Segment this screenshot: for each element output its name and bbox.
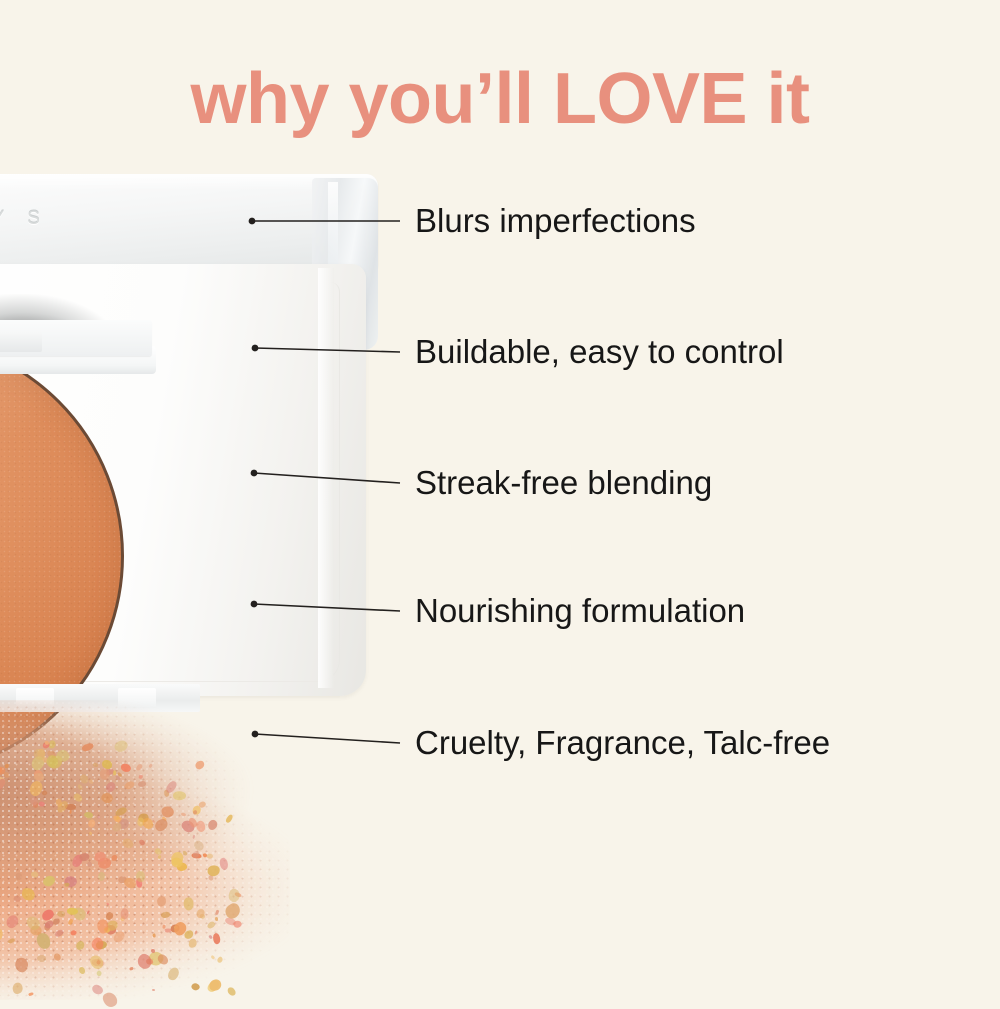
powder-crumb (174, 925, 179, 929)
powder-crumb (8, 938, 16, 945)
powder-crumb (123, 877, 137, 889)
powder-crumb (86, 861, 93, 868)
powder-crumb (28, 923, 42, 937)
powder-crumb (138, 812, 150, 824)
powder-crumb (154, 846, 163, 855)
page-title: why you’ll LOVE it (0, 62, 1000, 138)
powder-crumb (106, 920, 118, 932)
powder-crumb (4, 913, 20, 929)
compact-clasp-notch-right (118, 688, 156, 708)
powder-crumb (120, 908, 129, 920)
powder-crumb (136, 818, 145, 828)
powder-crumb (38, 800, 46, 807)
powder-crumb (136, 877, 144, 889)
powder-crumb (41, 908, 56, 921)
powder-crumb (192, 810, 197, 815)
powder-crumb (25, 914, 42, 932)
powder-crumb (156, 896, 167, 907)
powder-crumb (192, 853, 202, 859)
powder-crumb (192, 805, 201, 814)
powder-crumb (41, 873, 57, 889)
powder-crumb (88, 778, 94, 784)
powder-crumb (92, 958, 105, 966)
powder-crumb (0, 928, 3, 942)
powder-crumb (215, 917, 218, 921)
powder-crumb (161, 816, 167, 822)
powder-crumb (171, 920, 189, 938)
powder-crumb (156, 952, 170, 965)
powder-crumb (30, 870, 39, 878)
powder-crumb (193, 840, 206, 853)
powder-crumb (161, 911, 171, 919)
powder-crumb (176, 862, 189, 874)
powder-crumb (139, 775, 144, 779)
powder-crumb (208, 874, 215, 881)
callout-row: Cruelty, Fragrance, Talc-free (0, 723, 1000, 763)
powder-crumb (90, 983, 104, 997)
powder-crumb (114, 805, 128, 818)
powder-crumb (199, 913, 206, 920)
powder-crumb (29, 797, 39, 807)
powder-crumb (225, 813, 234, 823)
powder-crumb (168, 850, 186, 868)
powder-crumb (181, 818, 197, 835)
powder-crumb (54, 953, 62, 961)
callout-row: Blurs imperfections (0, 201, 1000, 241)
powder-crumb (13, 956, 31, 974)
powder-crumb (32, 801, 40, 809)
powder-crumb (183, 929, 194, 939)
powder-crumb (121, 837, 134, 851)
powder-crumb (105, 911, 116, 922)
powder-crumb (172, 790, 186, 801)
powder-crumb (21, 888, 36, 902)
powder-crumb (55, 798, 63, 808)
powder-crumb (64, 804, 75, 811)
powder-crumb (206, 818, 220, 832)
powder-crumb (215, 910, 219, 915)
callout-label: Buildable, easy to control (415, 332, 784, 372)
powder-crumb (209, 935, 214, 940)
powder-crumb (206, 920, 216, 930)
powder-crumb (27, 779, 45, 798)
powder-crumb (104, 780, 117, 793)
powder-crumb (5, 764, 10, 768)
powder-crumb (52, 917, 61, 925)
powder-crumb (65, 882, 70, 887)
powder-crumb (106, 903, 110, 907)
powder-crumb (169, 855, 184, 870)
powder-crumb (115, 775, 121, 781)
powder-crumb (211, 955, 216, 960)
powder-crumb (0, 897, 2, 913)
powder-crumb (84, 812, 93, 818)
powder-crumb (13, 871, 24, 882)
powder-crumb (33, 772, 45, 783)
powder-crumb (167, 966, 180, 981)
powder-crumb (97, 856, 112, 870)
powder-crumb (98, 767, 111, 781)
powder-crumb (202, 853, 207, 858)
powder-crumb (119, 915, 125, 921)
powder-crumb (198, 801, 207, 810)
powder-crumb (194, 819, 207, 833)
powder-crumb (208, 979, 221, 992)
powder-crumb (192, 850, 201, 859)
powder-crumb (163, 789, 170, 798)
powder-crumb (207, 864, 221, 877)
powder-crumb (233, 920, 243, 929)
callout-row: Nourishing formulation (0, 591, 1000, 631)
powder-crumb (0, 765, 7, 776)
powder-crumb (111, 822, 122, 832)
powder-crumb (119, 818, 130, 829)
powder-crumb (149, 764, 154, 769)
powder-crumb (43, 922, 51, 931)
powder-crumb (97, 871, 107, 882)
powder-crumb (152, 819, 156, 823)
powder-crumb (72, 906, 89, 922)
powder-crumb (183, 896, 196, 911)
powder-crumb (224, 917, 236, 926)
powder-crumb (150, 949, 154, 953)
powder-crumb (28, 992, 33, 996)
powder-crumb (56, 799, 69, 814)
callout-label: Blurs imperfections (415, 201, 696, 241)
powder-crumb (235, 892, 242, 898)
powder-crumb (135, 870, 146, 882)
powder-crumb (162, 924, 166, 929)
powder-crumb (12, 895, 21, 903)
powder-crumb (111, 855, 118, 862)
powder-crumb (11, 982, 24, 995)
powder-crumb (190, 982, 200, 992)
callout-label: Nourishing formulation (415, 591, 745, 631)
powder-crumb (181, 850, 188, 856)
powder-crumb (118, 876, 127, 884)
powder-crumb (74, 940, 86, 952)
powder-crumb (70, 930, 76, 936)
powder-crumb (130, 966, 134, 970)
powder-crumb (79, 966, 86, 973)
powder-crumb (78, 773, 90, 785)
powder-crumb (85, 909, 89, 914)
powder-crumb (56, 910, 64, 916)
powder-crumb (0, 766, 3, 774)
powder-crumb (97, 815, 101, 819)
powder-crumb (112, 929, 127, 944)
powder-crumb (96, 959, 102, 965)
powder-crumb (73, 793, 84, 803)
powder-crumb (211, 932, 221, 945)
powder-crumb (161, 805, 175, 819)
callout-label: Streak-free blending (415, 463, 712, 503)
powder-crumb (164, 927, 171, 932)
powder-crumb (99, 790, 114, 805)
powder-crumb (205, 853, 213, 860)
powder-crumb (157, 855, 162, 860)
powder-crumb (216, 956, 224, 964)
powder-crumb (43, 919, 54, 930)
powder-crumb (145, 959, 152, 965)
powder-crumb (89, 831, 93, 835)
powder-crumb (87, 814, 93, 821)
powder-crumb (152, 933, 156, 938)
powder-crumb (3, 771, 10, 778)
powder-crumb (137, 780, 147, 788)
powder-crumb (77, 783, 84, 790)
powder-crumb (56, 930, 63, 936)
powder-crumb (197, 910, 205, 919)
powder-crumb (112, 815, 123, 824)
powder-crumb (0, 778, 6, 792)
powder-crumb (117, 772, 123, 778)
powder-crumb (103, 926, 112, 935)
powder-crumb (227, 888, 242, 904)
callout-row: Streak-free blending (0, 463, 1000, 503)
powder-crumb (95, 939, 108, 950)
powder-crumb (37, 932, 42, 936)
callout-label: Cruelty, Fragrance, Talc-free (415, 723, 830, 763)
product-photo: HALEYS HALEYS (0, 160, 380, 1000)
powder-crumb (88, 953, 105, 971)
powder-crumb (105, 767, 115, 777)
powder-crumb (94, 850, 107, 862)
powder-crumb (101, 990, 119, 1009)
powder-crumb (34, 770, 44, 781)
powder-crumb (69, 810, 72, 814)
powder-crumb (86, 818, 97, 829)
powder-crumb (71, 852, 84, 867)
powder-crumb (89, 936, 106, 953)
powder-crumb (124, 780, 136, 791)
powder-crumb (96, 970, 103, 977)
powder-crumb (188, 938, 197, 948)
powder-crumb (95, 918, 110, 935)
powder-crumb (120, 764, 131, 773)
powder-crumb (104, 923, 118, 937)
powder-crumb (136, 952, 155, 971)
powder-crumb (192, 835, 195, 839)
powder-crumb (0, 775, 7, 792)
powder-crumb (113, 770, 117, 775)
powder-crumb (37, 954, 47, 963)
powder-crumb (78, 851, 91, 863)
powder-crumb (165, 780, 179, 795)
powder-crumb (152, 989, 155, 991)
powder-crumb (187, 817, 199, 829)
powder-crumb (146, 949, 165, 968)
powder-crumb (170, 924, 179, 932)
powder-crumb (35, 933, 50, 951)
powder-crumb (227, 986, 237, 997)
powder-crumb (206, 978, 221, 994)
compact-clasp-notch-mid (16, 688, 54, 708)
callout-row: Buildable, easy to control (0, 332, 1000, 372)
powder-crumb (180, 812, 185, 816)
powder-crumb (93, 763, 98, 767)
powder-crumb (63, 875, 78, 890)
powder-crumb (135, 764, 143, 772)
powder-crumb (219, 857, 230, 871)
powder-crumb (40, 790, 47, 797)
powder-crumb (54, 928, 65, 938)
powder-crumb (115, 816, 120, 822)
powder-crumb (141, 817, 154, 831)
powder-crumb (223, 902, 242, 921)
powder-crumb (68, 919, 73, 926)
powder-crumb (153, 818, 169, 833)
infographic-canvas: why you’ll LOVE it HALEYS HALEYS (0, 0, 1000, 1000)
powder-crumb (194, 930, 197, 934)
powder-crumb (138, 839, 145, 846)
powder-crumb (67, 907, 78, 915)
